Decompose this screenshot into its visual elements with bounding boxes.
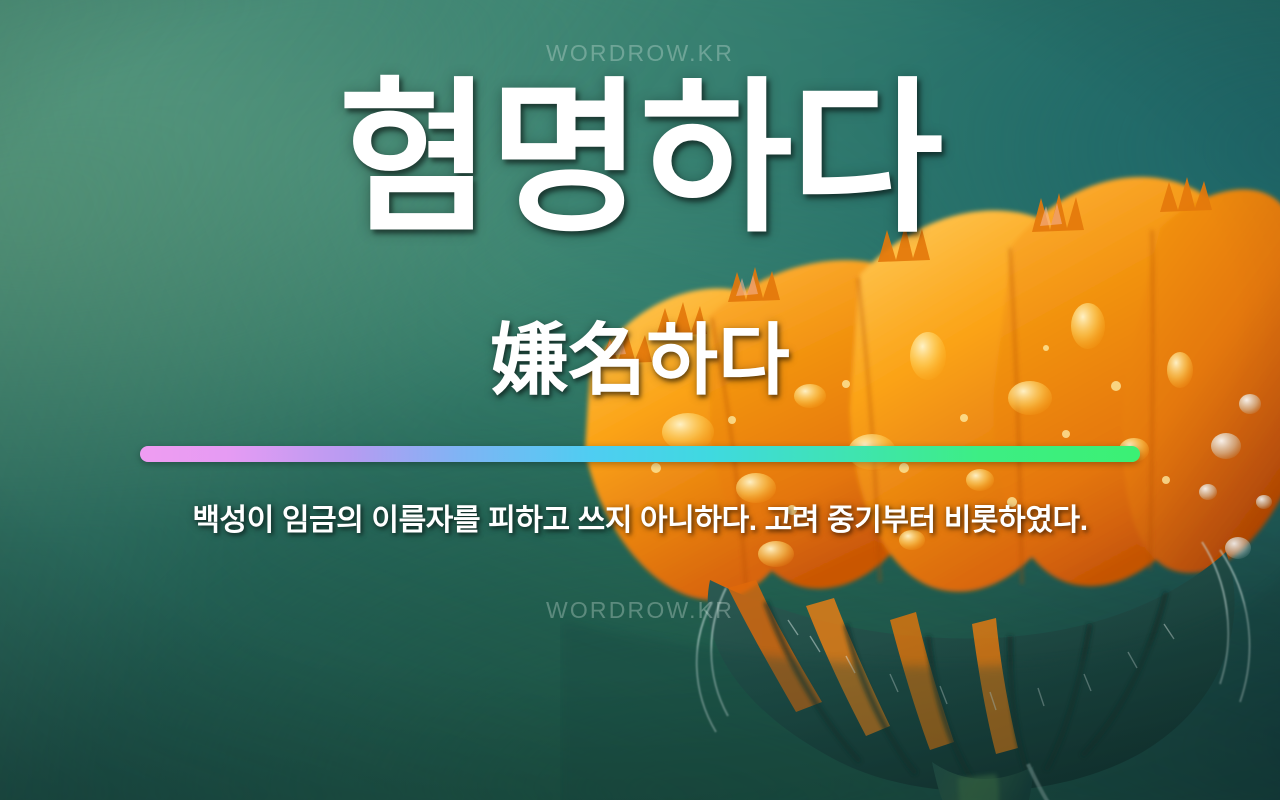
headword-title: 혐명하다 bbox=[0, 62, 1280, 258]
gradient-divider bbox=[140, 446, 1140, 462]
definition-text: 백성이 임금의 이름자를 피하고 쓰지 아니하다. 고려 중기부터 비롯하였다. bbox=[140, 500, 1140, 543]
content-stack: 혐명하다 嫌名하다 백성이 임금의 이름자를 피하고 쓰지 아니하다. 고려 중… bbox=[0, 0, 1280, 800]
hanja-subtitle: 嫌名하다 bbox=[0, 312, 1280, 410]
word-card: WORDROW.KR WORDROW.KR 혐명하다 嫌名하다 백성이 임금의 … bbox=[0, 0, 1280, 800]
